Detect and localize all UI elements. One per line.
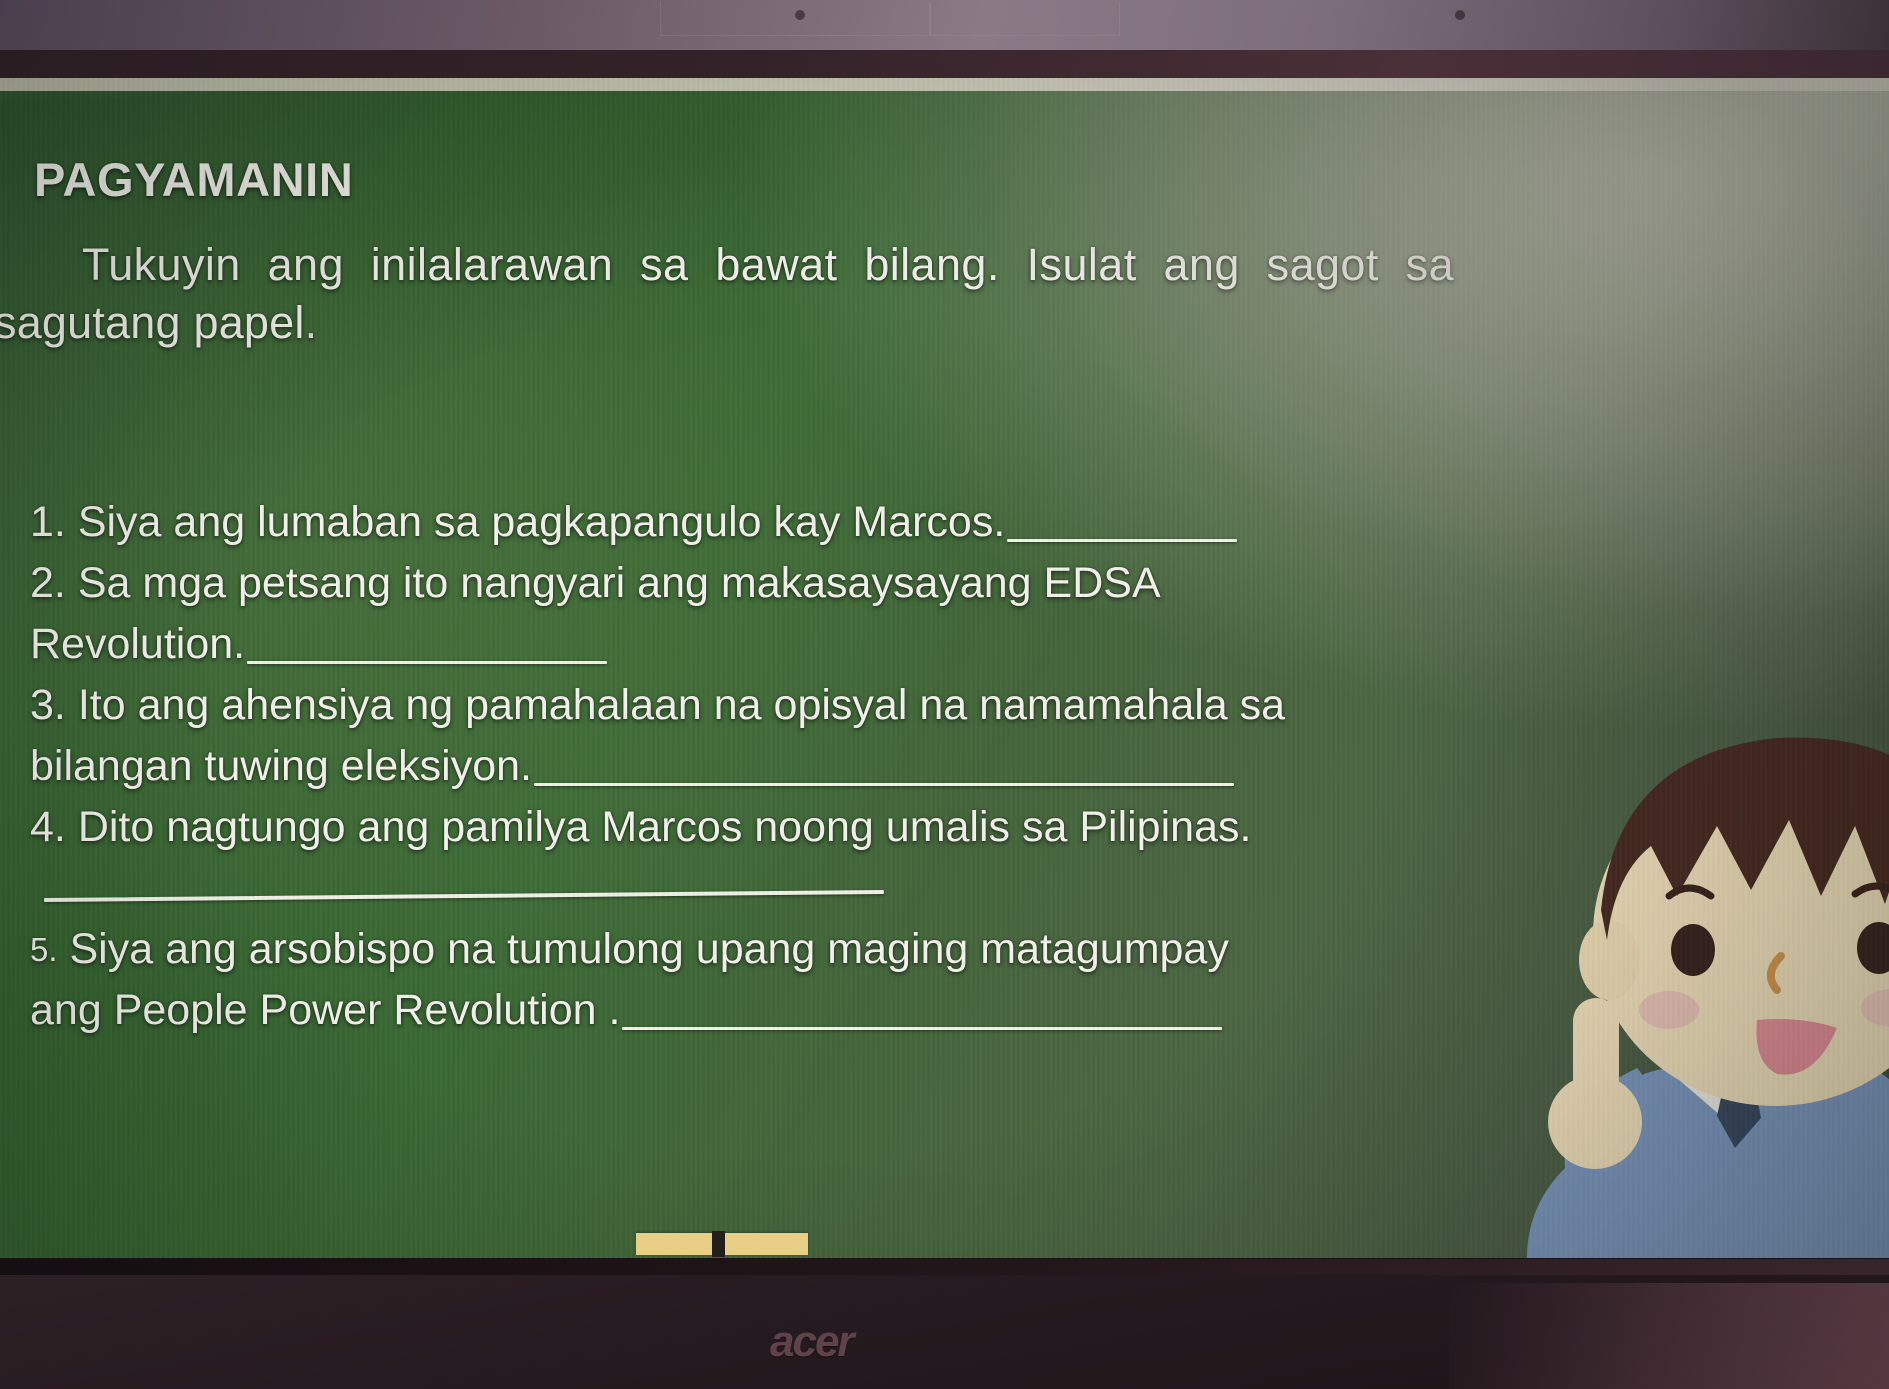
screen-hinge <box>0 1259 1889 1275</box>
bezel-light-reflection <box>1449 1283 1889 1389</box>
item-5-number: 5. <box>30 931 58 968</box>
item-1-number: 1. <box>30 498 66 546</box>
list-item: 4. Dito nagtungo ang pamilya Marcos noon… <box>30 797 1870 858</box>
item-2-text-line-1: Sa mga petsang ito nangyari ang makasays… <box>78 559 1161 607</box>
item-1-answer-blank[interactable] <box>1007 539 1237 542</box>
list-item: 1. Siya ang lumaban sa pagkapangulo kay … <box>30 492 1870 553</box>
list-item: 5. Siya ang arsobispo na tumulong upang … <box>30 919 1870 980</box>
item-3-text-line-1: Ito ang ahensiya ng pamahalaan na opisya… <box>78 681 1285 729</box>
ceiling-panel-seam-right <box>930 2 1120 36</box>
item-4-answer-blank[interactable] <box>30 858 1870 919</box>
ceiling-panel-seam-left <box>660 2 930 36</box>
item-3-answer-blank[interactable] <box>534 783 1234 786</box>
item-3-text-line-2: bilangan tuwing eleksiyon. <box>30 742 532 790</box>
item-2-text-line-2: Revolution. <box>30 620 245 668</box>
slide-instruction: Tukuyin ang inilalarawan sa bawat bilang… <box>0 236 1889 352</box>
instruction-line-2: sagutang papel <box>0 297 305 348</box>
screen-bezel-bottom: acer <box>0 1259 1889 1389</box>
instruction-line-1: Tukuyin ang inilalarawan sa bawat bilang… <box>0 236 1830 294</box>
item-5-text-line-2: ang People Power Revolution . <box>30 986 620 1034</box>
slide-marker-notch <box>712 1231 725 1257</box>
item-4-number: 4. <box>30 803 66 851</box>
item-5-answer-blank[interactable] <box>622 1027 1222 1030</box>
list-item-continuation: Revolution. <box>30 614 1870 675</box>
item-4-answer-rule <box>44 890 884 902</box>
item-2-answer-blank[interactable] <box>247 661 607 664</box>
question-list: 1. Siya ang lumaban sa pagkapangulo kay … <box>30 492 1870 1041</box>
item-5-text-line-1: Siya ang arsobispo na tumulong upang mag… <box>69 925 1228 973</box>
list-item-continuation: bilangan tuwing eleksiyon. <box>30 736 1870 797</box>
list-item: 2. Sa mga petsang ito nangyari ang makas… <box>30 553 1870 614</box>
wall-reflection <box>0 0 1889 56</box>
item-2-number: 2. <box>30 559 66 607</box>
presentation-slide: PAGYAMANIN Tukuyin ang inilalarawan sa b… <box>0 78 1889 1258</box>
instruction-line-2-wrap: sagutang papel. <box>0 294 1889 352</box>
instruction-period: . <box>305 297 318 348</box>
slide-content: PAGYAMANIN Tukuyin ang inilalarawan sa b… <box>0 78 1889 1258</box>
slide-bottom-marker <box>636 1233 808 1255</box>
item-1-text: Siya ang lumaban sa pagkapangulo kay Mar… <box>78 498 1005 546</box>
slide-title: PAGYAMANIN <box>34 152 353 207</box>
ceiling-screw-left <box>795 10 805 20</box>
ceiling-screw-right <box>1455 10 1465 20</box>
item-3-number: 3. <box>30 681 66 729</box>
acer-logo: acer <box>770 1317 853 1367</box>
laptop-photo: PAGYAMANIN Tukuyin ang inilalarawan sa b… <box>0 0 1889 1389</box>
item-4-text: Dito nagtungo ang pamilya Marcos noong u… <box>78 803 1252 851</box>
list-item: 3. Ito ang ahensiya ng pamahalaan na opi… <box>30 675 1870 736</box>
list-item-continuation: ang People Power Revolution . <box>30 980 1870 1041</box>
